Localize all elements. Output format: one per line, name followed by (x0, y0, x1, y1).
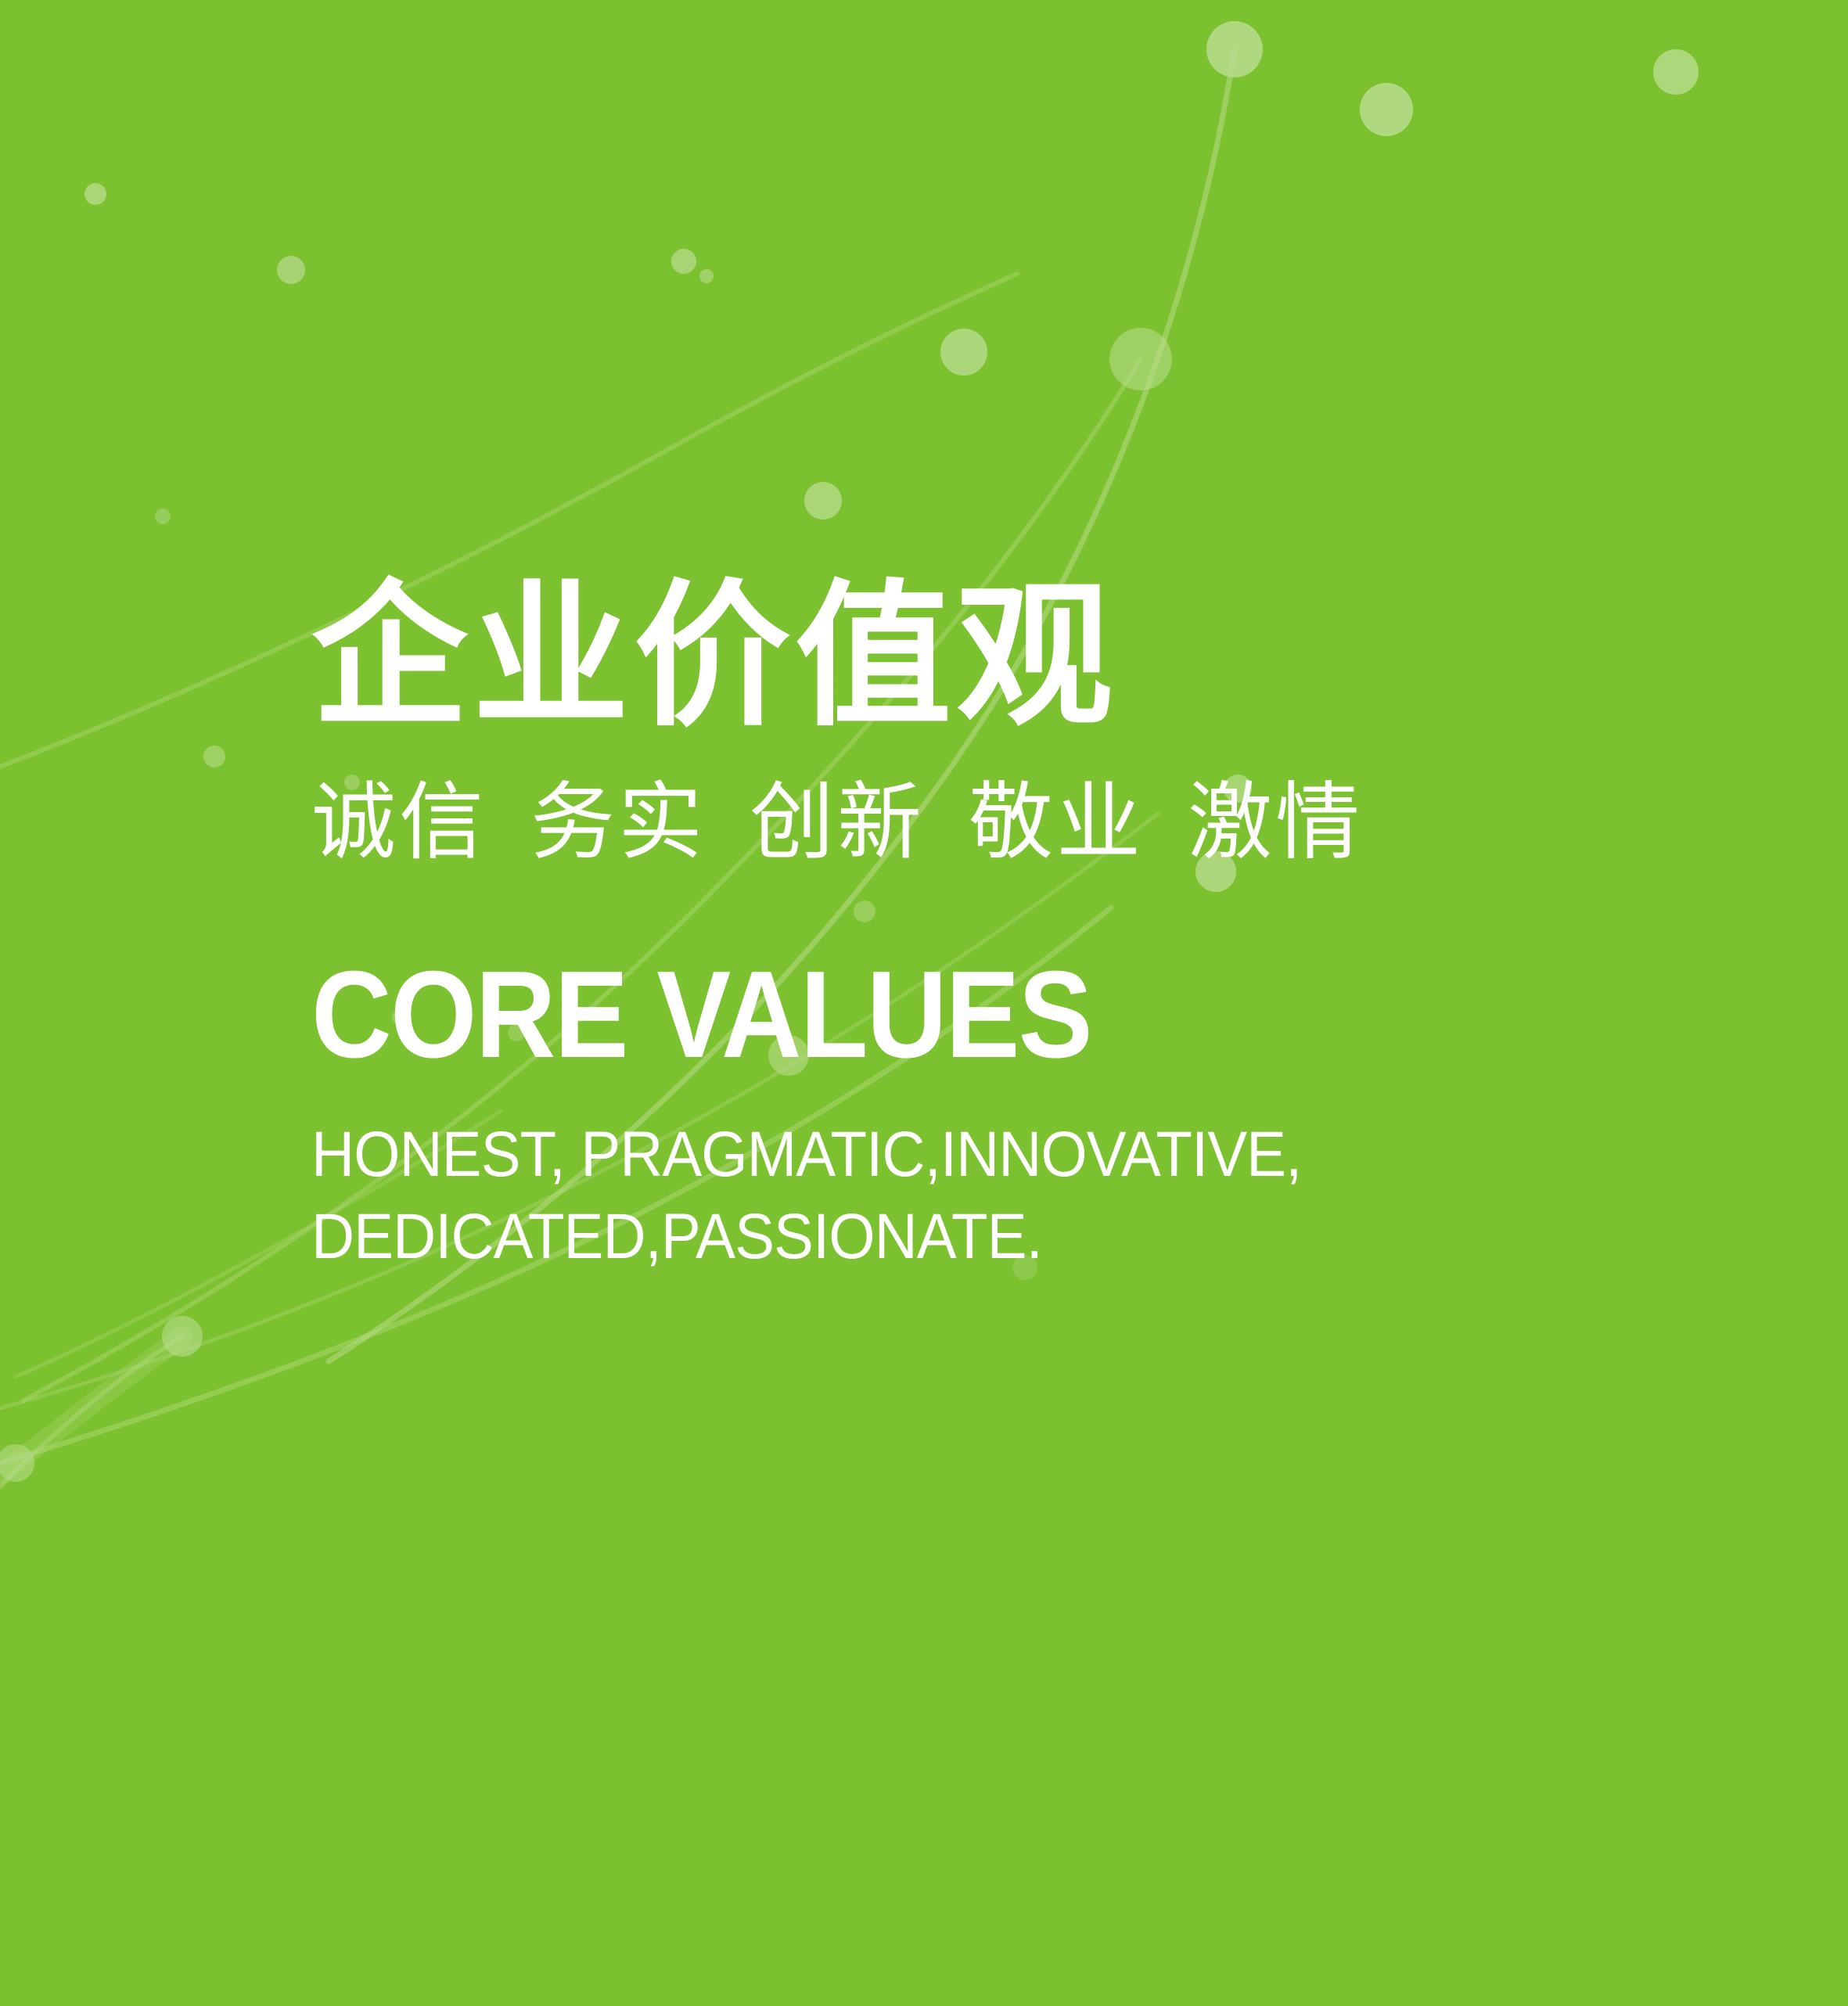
english-body: HONEST, PRAGMATIC,INNOVATIVE, DEDICATED,… (311, 1114, 1621, 1278)
core-values-poster: 企业价值观 诚信务实创新敬业激情 CORE VALUES HONEST, PRA… (0, 0, 1848, 2006)
node-dot (699, 269, 714, 283)
node-dot (1109, 328, 1172, 390)
node-dot (0, 1444, 34, 1482)
english-title: CORE VALUES (311, 953, 1579, 1077)
english-body-line-2: DEDICATED,PASSIONATE. (311, 1196, 1621, 1278)
node-dot (1206, 21, 1263, 77)
chinese-subtitle-word-2: 务实 (530, 774, 706, 872)
chinese-title: 企业价值观 (311, 579, 1720, 735)
chinese-subtitle-word-1: 诚信 (311, 774, 487, 872)
node-dot (940, 329, 987, 376)
node-dot (804, 482, 842, 519)
chinese-subtitle-word-3: 创新 (750, 774, 925, 872)
node-dot (84, 183, 106, 205)
node-dot (671, 249, 696, 274)
chinese-subtitle-word-4: 敬业 (969, 774, 1144, 872)
chinese-subtitle: 诚信务实创新敬业激情 (311, 781, 1720, 865)
chinese-subtitle-word-5: 激情 (1188, 774, 1363, 872)
node-dot (155, 509, 171, 524)
node-dot (162, 1316, 203, 1357)
curve-thick-left (0, 1336, 182, 1475)
english-body-line-1: HONEST, PRAGMATIC,INNOVATIVE, (311, 1114, 1621, 1196)
node-dot (203, 746, 225, 768)
curve-thin-left (0, 1336, 182, 1487)
node-dot (277, 256, 305, 284)
node-dot (1653, 49, 1699, 95)
poster-content: 企业价值观 诚信务实创新敬业激情 CORE VALUES HONEST, PRA… (311, 579, 1720, 1278)
node-dot (1360, 83, 1413, 136)
